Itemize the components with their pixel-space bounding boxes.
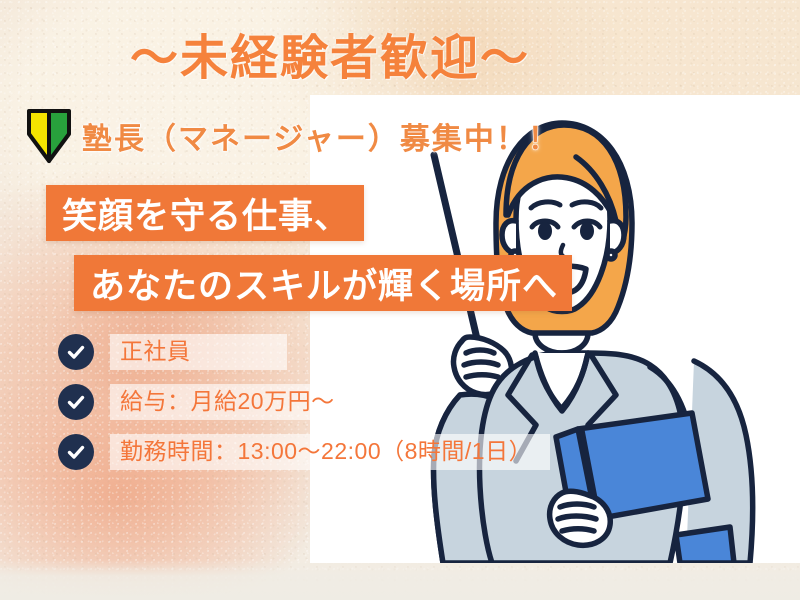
tagline-banner-1-text: 笑顔を守る仕事、	[62, 188, 350, 239]
beginner-leaf-mark-icon	[26, 108, 72, 164]
businesswoman-illustration	[310, 95, 800, 563]
tagline-banner-1: 笑顔を守る仕事、	[46, 185, 364, 241]
check-circle-icon	[58, 434, 94, 470]
conditions-list: 正社員 給与：月給20万円〜 勤務時間：13:00〜22:00（8時間/1日）	[58, 334, 528, 484]
list-item: 給与：月給20万円〜	[58, 384, 528, 420]
illustration-panel	[310, 95, 800, 563]
list-item: 勤務時間：13:00〜22:00（8時間/1日）	[58, 434, 528, 470]
condition-salary: 給与：月給20万円〜	[110, 384, 375, 421]
page-title: 〜未経験者歓迎〜	[0, 18, 660, 88]
condition-working-hours: 勤務時間：13:00〜22:00（8時間/1日）	[110, 434, 550, 471]
condition-employment-type: 正社員	[110, 334, 287, 371]
subtitle-text: 塾長（マネージャー）募集中！！	[82, 114, 560, 158]
list-item: 正社員	[58, 334, 528, 370]
background-bottom-band	[0, 560, 800, 600]
tagline-banner-2: あなたのスキルが輝く場所へ	[74, 255, 572, 311]
check-circle-icon	[58, 384, 94, 420]
subtitle-row: 塾長（マネージャー）募集中！！	[26, 108, 560, 164]
tagline-banner-2-text: あなたのスキルが輝く場所へ	[90, 258, 558, 309]
job-ad-poster: 〜未経験者歓迎〜 塾長（マネージャー）募集中！！ 笑顔を守る仕事、 あなたのスキ…	[0, 0, 800, 600]
check-circle-icon	[58, 334, 94, 370]
